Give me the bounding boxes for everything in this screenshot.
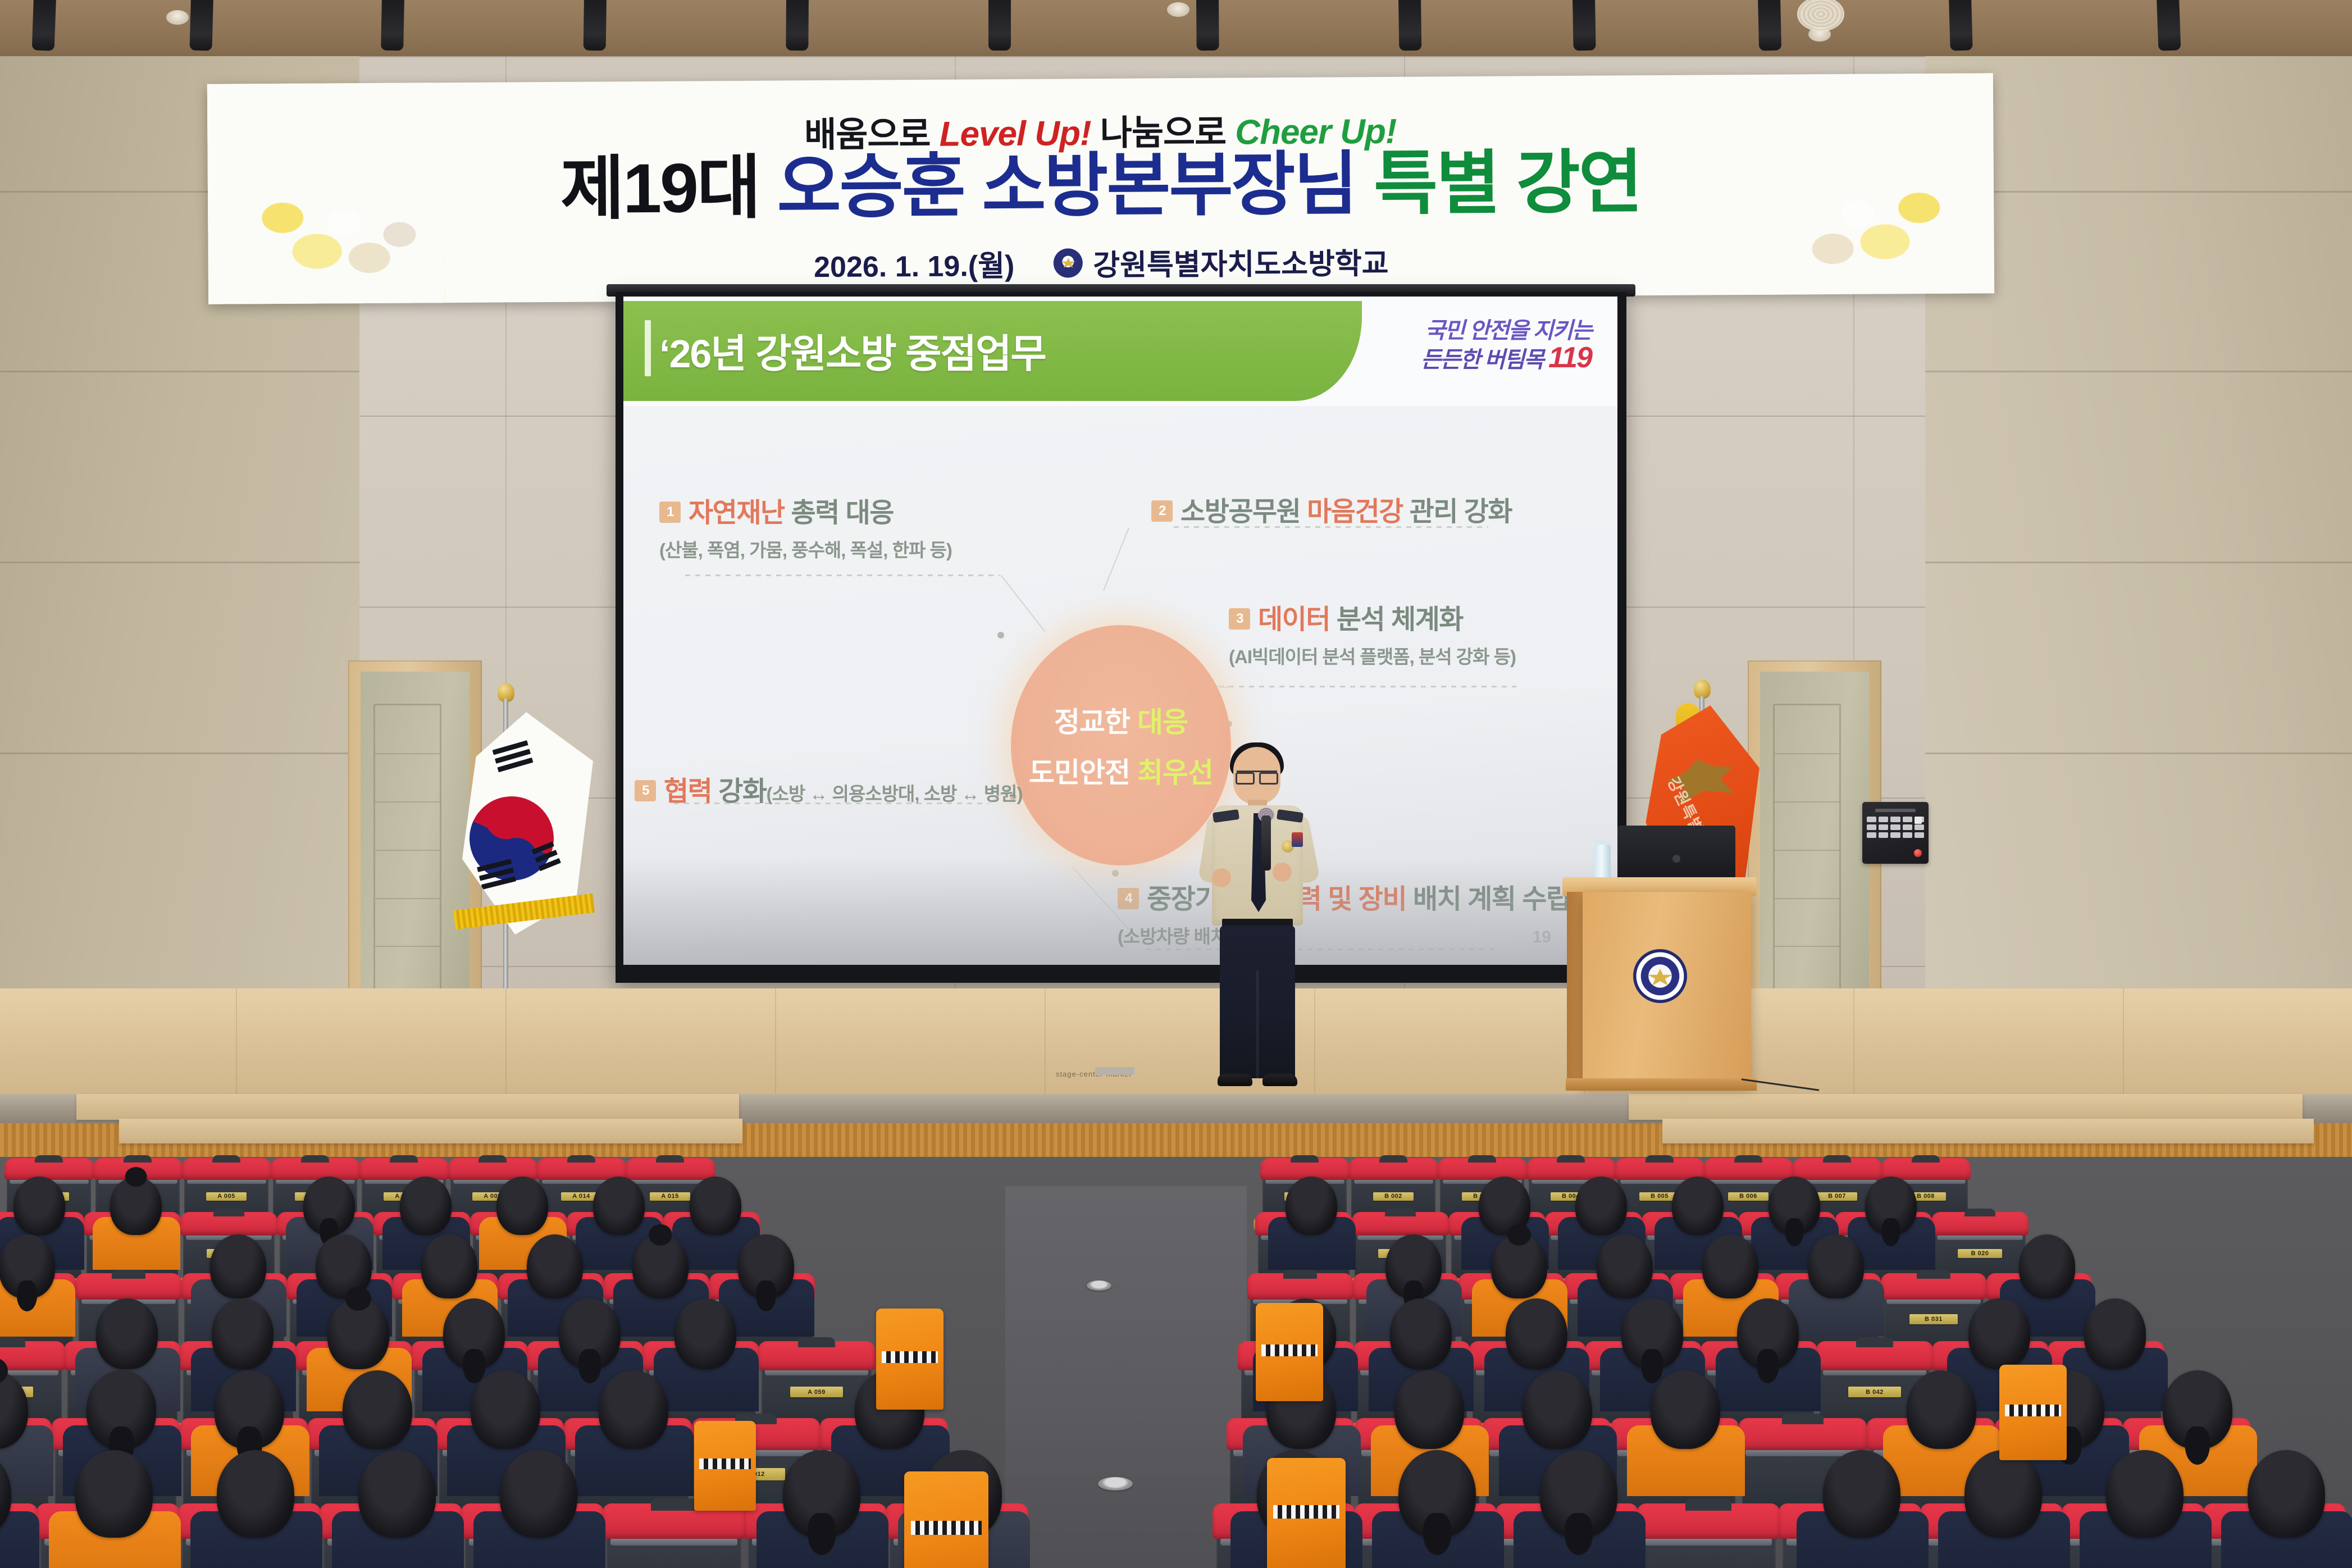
ceiling-light-slot xyxy=(1949,0,1973,51)
stage-step-left-lower xyxy=(119,1119,742,1143)
seat-number-plate: A 059 xyxy=(790,1387,843,1398)
fire-school-crest-icon xyxy=(1633,949,1687,1003)
lectern-base xyxy=(1566,1078,1757,1091)
control-button[interactable] xyxy=(1867,824,1876,830)
audience-member-head xyxy=(1506,1298,1567,1369)
slide-header: ‘26년 강원소방 중점업무 국민 안전을 지키는 든든한 버팀목 119 xyxy=(623,297,1617,406)
audience-member-head xyxy=(1385,1234,1442,1298)
slide-item-2-number: 2 xyxy=(1151,500,1173,522)
event-banner: 배움으로 Level Up! 나눔으로 Cheer Up! 제19대 오승훈 소… xyxy=(207,73,1994,304)
reflective-stripe xyxy=(911,1521,982,1535)
av-lighting-control-panel[interactable] xyxy=(1862,802,1929,864)
ceiling-light-slot xyxy=(584,0,607,51)
seat-headrest xyxy=(359,1158,449,1180)
seat-headrest xyxy=(1816,1341,1933,1370)
seat-headrest xyxy=(1349,1158,1438,1180)
stage-door-left[interactable] xyxy=(348,660,482,1031)
slide-item-3-highlight: 데이터 xyxy=(1258,605,1330,635)
slide-item-1-rest: 총력 대응 xyxy=(785,498,894,528)
ceiling-light-slot xyxy=(32,0,56,51)
seat-headrest xyxy=(1881,1273,1987,1299)
seat-number-plate: B 042 xyxy=(1848,1387,1901,1398)
stage-step-right xyxy=(1629,1094,2303,1120)
audience-member-head xyxy=(343,1370,412,1449)
audience-member-head xyxy=(527,1234,583,1298)
ceiling-speaker-icon xyxy=(1797,0,1844,31)
auditorium-seat[interactable] xyxy=(1641,1525,1776,1568)
audience-member-head xyxy=(471,1370,540,1449)
control-panel-label xyxy=(1875,809,1915,812)
auditorium-scene: 배움으로 Level Up! 나눔으로 Cheer Up! 제19대 오승훈 소… xyxy=(0,0,2352,1568)
audience-member-head xyxy=(599,1370,668,1449)
audience-member-head xyxy=(593,1177,645,1235)
stage-floor xyxy=(0,988,2352,1106)
audience-member-head xyxy=(421,1234,477,1298)
audience-member-head xyxy=(1672,1177,1724,1235)
control-button[interactable] xyxy=(1903,824,1912,830)
door-leaf-left[interactable] xyxy=(361,672,470,1025)
ceiling-sprinkler-icon xyxy=(1167,2,1189,17)
fire-school-emblem-icon xyxy=(1054,248,1083,277)
control-button[interactable] xyxy=(1915,832,1924,838)
reflective-stripe xyxy=(1261,1344,1318,1356)
trigram-geon-icon xyxy=(493,740,535,776)
ceiling-sprinkler-icon xyxy=(166,10,189,25)
audience-member-head xyxy=(1390,1298,1452,1369)
audience-member-head xyxy=(443,1298,505,1369)
audience-member-head xyxy=(1737,1298,1799,1369)
seat-number-plate: B 002 xyxy=(1373,1192,1414,1201)
seat-number-plate: A 015 xyxy=(650,1192,690,1201)
control-button[interactable] xyxy=(1890,817,1900,822)
audience-member-head xyxy=(327,1298,389,1369)
flag-finial-icon xyxy=(1694,680,1711,699)
banner-title-part-3: 특별 강연 xyxy=(1374,144,1642,223)
seat-band xyxy=(1645,1538,1772,1546)
audience-member-head xyxy=(690,1177,741,1235)
audience-member-head xyxy=(500,1450,577,1538)
seat-band xyxy=(1823,1369,1926,1375)
seat-number-plate: A 005 xyxy=(206,1192,247,1201)
slide-item-5: 5협력 강화(소방 ↔ 의용소방대, 소방 ↔ 병원) xyxy=(635,769,1022,808)
slide-page-number: 19 xyxy=(1533,928,1551,947)
seat-headrest xyxy=(626,1158,715,1180)
banner-footer: 2026. 1. 19.(월) 강원특별자치도소방학교 xyxy=(208,236,1994,289)
slide-slogan-line-1: 국민 안전을 지키는 xyxy=(1389,319,1592,343)
control-button[interactable] xyxy=(1903,817,1912,822)
slide-item-3: 3데이터 분석 체계화 (AI빅데이터 분석 플랫폼, 분석 강화 등) xyxy=(1229,597,1516,669)
audience-member-head xyxy=(1491,1234,1547,1298)
ceiling-light-slot xyxy=(1398,0,1421,51)
reflective-stripe xyxy=(882,1351,938,1364)
audience-member-head xyxy=(2084,1298,2146,1369)
banner-date: 2026. 1. 19.(월) xyxy=(814,242,1015,285)
audience-member-head xyxy=(96,1298,158,1369)
seat-headrest xyxy=(76,1273,182,1299)
stage-step-right-lower xyxy=(1662,1119,2314,1143)
slide-item-1-sub: (산불, 폭염, 가뭄, 풍수해, 폭설, 한파 등) xyxy=(659,535,952,562)
seat-headrest xyxy=(4,1158,94,1180)
seat-headrest xyxy=(1739,1418,1867,1450)
center-line1-highlight: 대응 xyxy=(1137,706,1188,738)
slide-item-2: 2소방공무원 마음건강 관리 강화 xyxy=(1151,489,1512,528)
hi-vis-jacket xyxy=(1267,1458,1346,1568)
center-line2-normal: 도민안전 xyxy=(1029,757,1137,788)
audience-member-head xyxy=(1702,1234,1758,1298)
lectern-side xyxy=(1567,892,1584,1085)
speaker-hand-left xyxy=(1212,868,1231,887)
audience-member-head xyxy=(110,1177,162,1235)
seat-headrest xyxy=(1260,1158,1350,1180)
door-leaf-right[interactable] xyxy=(1760,672,1869,1025)
slide-item-3-sub: (AI빅데이터 분석 플랫폼, 분석 강화 등) xyxy=(1229,642,1516,669)
slide-slogan: 국민 안전을 지키는 든든한 버팀목 119 xyxy=(1389,319,1592,373)
seat-headrest xyxy=(758,1341,875,1370)
auditorium-seat[interactable] xyxy=(607,1525,741,1568)
audience-member-head xyxy=(210,1234,266,1298)
seat-headrest xyxy=(180,1212,277,1236)
seat-headrest xyxy=(1637,1503,1780,1539)
ceiling-light-slot xyxy=(786,0,809,51)
center-line1-normal: 정교한 xyxy=(1054,706,1137,738)
audience-member-head xyxy=(75,1450,153,1538)
banner-title-part-2: 오승훈 소방본부장님 xyxy=(777,145,1374,226)
audience-member-head xyxy=(2019,1234,2075,1298)
stage-floor-plate xyxy=(1095,1067,1134,1075)
audience-member-head xyxy=(783,1450,860,1538)
audience-member-head xyxy=(496,1177,548,1235)
seat-band xyxy=(1937,1235,2023,1240)
handheld-microphone xyxy=(1261,815,1271,870)
control-button[interactable] xyxy=(1879,817,1888,822)
seat-headrest xyxy=(271,1158,360,1180)
audience-member-head xyxy=(1823,1450,1900,1538)
slide-item-4-number: 4 xyxy=(1118,888,1139,909)
slide-title-accent-bar xyxy=(645,320,651,376)
seat-band xyxy=(187,1179,266,1184)
slide-item-4-rest: 배치 계획 수립 xyxy=(1406,885,1570,914)
control-button[interactable] xyxy=(1879,824,1888,830)
banner-title: 제19대 오승훈 소방본부장님 특별 강연 xyxy=(208,142,1994,230)
seat-headrest xyxy=(182,1158,271,1180)
control-button[interactable] xyxy=(1867,817,1876,822)
seat-band xyxy=(765,1369,868,1375)
slide-center-circle: 정교한 대응 도민안전 최우선 xyxy=(1011,625,1231,865)
hi-vis-jacket xyxy=(694,1421,756,1511)
audience-member-head xyxy=(559,1298,621,1369)
reflective-stripe xyxy=(1273,1505,1339,1519)
seat-headrest xyxy=(1704,1158,1793,1180)
audience-member-head xyxy=(1597,1234,1653,1298)
center-line2-highlight: 최우선 xyxy=(1137,757,1213,788)
seat-band xyxy=(1709,1179,1788,1184)
slide-item-2-rest: 관리 강화 xyxy=(1403,497,1512,527)
ceiling-light-slot xyxy=(988,0,1011,51)
seat-band xyxy=(1354,1179,1433,1184)
audience-member-head xyxy=(1286,1177,1337,1235)
slide-item-5-highlight: 협력 xyxy=(664,777,712,806)
audience-member-head xyxy=(303,1177,355,1235)
slide-item-2-highlight: 마음건강 xyxy=(1307,497,1403,527)
audience-member-head xyxy=(1964,1450,2042,1538)
hi-vis-jacket xyxy=(1999,1365,2067,1460)
hi-vis-jacket xyxy=(904,1471,988,1568)
audience-member-head xyxy=(1394,1370,1464,1449)
ceiling-light-slot xyxy=(1758,0,1781,51)
control-button[interactable] xyxy=(1879,832,1888,838)
speaker-shoe-left xyxy=(1218,1074,1252,1086)
audience-member-head xyxy=(1968,1298,2030,1369)
audience-member-head xyxy=(358,1450,436,1538)
audience-member-head xyxy=(674,1298,736,1369)
control-button[interactable] xyxy=(1915,824,1924,830)
control-button[interactable] xyxy=(1890,824,1900,830)
audience-member-head xyxy=(1621,1298,1683,1369)
ceiling-light-slot xyxy=(1572,0,1596,51)
seat-number-plate: B 031 xyxy=(1909,1314,1957,1324)
seat-band xyxy=(1886,1299,1980,1305)
hi-vis-jacket xyxy=(1256,1303,1323,1401)
projection-screen: ‘26년 강원소방 중점업무 국민 안전을 지키는 든든한 버팀목 119 xyxy=(623,297,1617,965)
audience-member-head xyxy=(1808,1234,1864,1298)
seat-headrest xyxy=(537,1158,626,1180)
ceiling-light-slot xyxy=(2157,0,2181,51)
control-button[interactable] xyxy=(1867,832,1876,838)
floor-outlet-icon xyxy=(1087,1280,1111,1291)
seat-number-plate: B 007 xyxy=(1817,1192,1857,1201)
audience-member-head xyxy=(1575,1177,1627,1235)
slide-title: ‘26년 강원소방 중점업무 xyxy=(659,322,1046,379)
banner-title-part-1: 제19대 xyxy=(560,149,777,228)
speaker-trousers xyxy=(1220,926,1295,1078)
seat-number-plate: B 020 xyxy=(1958,1249,2002,1258)
seat-headrest xyxy=(1352,1212,1449,1236)
stage-door-right[interactable] xyxy=(1748,660,1881,1031)
seat-band xyxy=(631,1179,710,1184)
slide-item-1-number: 1 xyxy=(659,502,681,523)
audience-member-head xyxy=(1907,1370,1976,1449)
stage-step-left xyxy=(76,1094,739,1120)
slide-item-3-number: 3 xyxy=(1229,608,1250,630)
water-bottle xyxy=(1594,845,1611,882)
control-button[interactable] xyxy=(1903,832,1912,838)
ceiling-light-slot xyxy=(1196,0,1219,51)
speaker-shoe-right xyxy=(1262,1074,1297,1086)
audience-member-head xyxy=(215,1370,284,1449)
audience-member-head xyxy=(0,1234,55,1298)
audience-member-head xyxy=(738,1234,794,1298)
reflective-stripe xyxy=(699,1458,751,1469)
banner-organization: 강원특별자치도소방학교 xyxy=(1093,240,1389,284)
audience-member-head xyxy=(1398,1450,1476,1538)
slide-item-4-sub: (소방차량 배치 등) xyxy=(1118,922,1570,949)
audience-member-head xyxy=(632,1234,689,1298)
audience-member-head xyxy=(400,1177,452,1235)
audience-member-head xyxy=(1768,1177,1820,1235)
speaker-hand-right xyxy=(1273,863,1292,882)
center-aisle xyxy=(1005,1186,1247,1568)
ceiling-light-slot xyxy=(189,0,213,51)
slide-item-3-rest: 분석 체계화 xyxy=(1330,605,1463,635)
audience-member-head xyxy=(1865,1177,1917,1235)
seat-number-plate: B 006 xyxy=(1728,1192,1768,1201)
audience-member-head xyxy=(217,1450,294,1538)
floor-outlet-icon xyxy=(1098,1477,1133,1490)
control-button[interactable] xyxy=(1890,832,1900,838)
audience-member-head xyxy=(1540,1450,1617,1538)
audience-member-head xyxy=(2248,1450,2325,1538)
slide-slogan-119: 119 xyxy=(1548,341,1592,374)
audience-member-head xyxy=(13,1177,65,1235)
audience-member-head xyxy=(2106,1450,2184,1538)
control-panel-indicator-icon xyxy=(1914,849,1922,857)
seat-headrest xyxy=(0,1341,65,1370)
slide-item-1: 1자연재난 총력 대응 (산불, 폭염, 가뭄, 풍수해, 폭설, 한파 등) xyxy=(659,490,952,562)
door-panel xyxy=(373,704,441,1008)
slide-item-5-number: 5 xyxy=(635,780,656,801)
reflective-stripe xyxy=(2005,1405,2062,1416)
uniform-shoulder-patch-icon xyxy=(1292,832,1303,847)
audience-member-head xyxy=(212,1298,274,1369)
seat-headrest xyxy=(1931,1212,2029,1236)
seat-headrest xyxy=(1438,1158,1527,1180)
ceiling-light-slot xyxy=(381,0,404,51)
seat-headrest xyxy=(1793,1158,1882,1180)
slide-slogan-line-2: 든든한 버팀목 xyxy=(1421,348,1543,372)
audience-member-head xyxy=(86,1370,156,1449)
slide-body: 정교한 대응 도민안전 최우선 1자연재난 총력 대응 (산불, 폭염, 가뭄,… xyxy=(623,406,1617,965)
slide-item-2-lead: 소방공무원 xyxy=(1180,497,1307,527)
slide-item-1-highlight: 자연재난 xyxy=(689,498,785,528)
slide-item-5-inline: (소방 ↔ 의용소방대, 소방 ↔ 병원) xyxy=(766,783,1022,804)
slide-item-5-rest: 강화 xyxy=(712,777,766,806)
control-panel-switch[interactable] xyxy=(1915,817,1922,824)
seat-headrest xyxy=(1615,1158,1704,1180)
door-panel xyxy=(1773,704,1840,1008)
seat-headrest xyxy=(1247,1273,1353,1299)
seat-band xyxy=(610,1538,737,1546)
hi-vis-jacket xyxy=(876,1309,943,1410)
laptop-logo-icon xyxy=(1672,855,1680,863)
audience-member-head xyxy=(2163,1370,2232,1449)
laptop[interactable] xyxy=(1617,826,1735,884)
audience-member-head xyxy=(1523,1370,1592,1449)
slide-item-4: 4중장기 소방인력 및 장비 배치 계획 수립 (소방차량 배치 등) xyxy=(1118,877,1570,949)
audience-member-head xyxy=(1651,1370,1720,1449)
glasses-icon xyxy=(1237,771,1277,780)
